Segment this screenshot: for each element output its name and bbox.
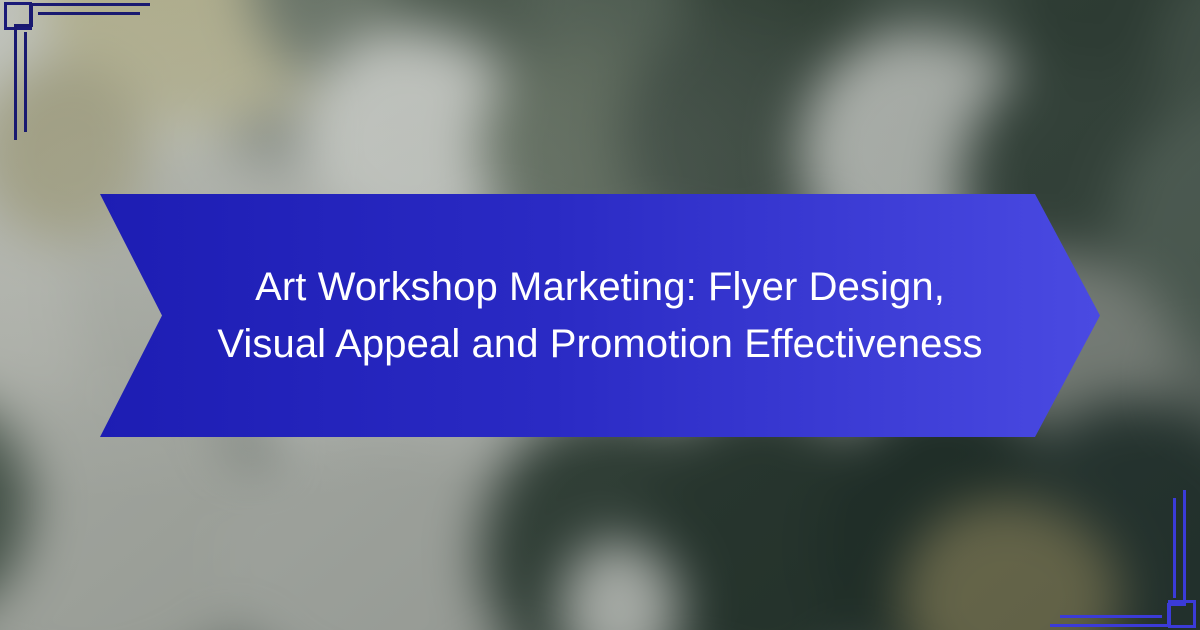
share-card: Art Workshop Marketing: Flyer Design, Vi…: [0, 0, 1200, 630]
page-title: Art Workshop Marketing: Flyer Design, Vi…: [165, 259, 1035, 373]
title-banner: Art Workshop Marketing: Flyer Design, Vi…: [100, 194, 1100, 437]
